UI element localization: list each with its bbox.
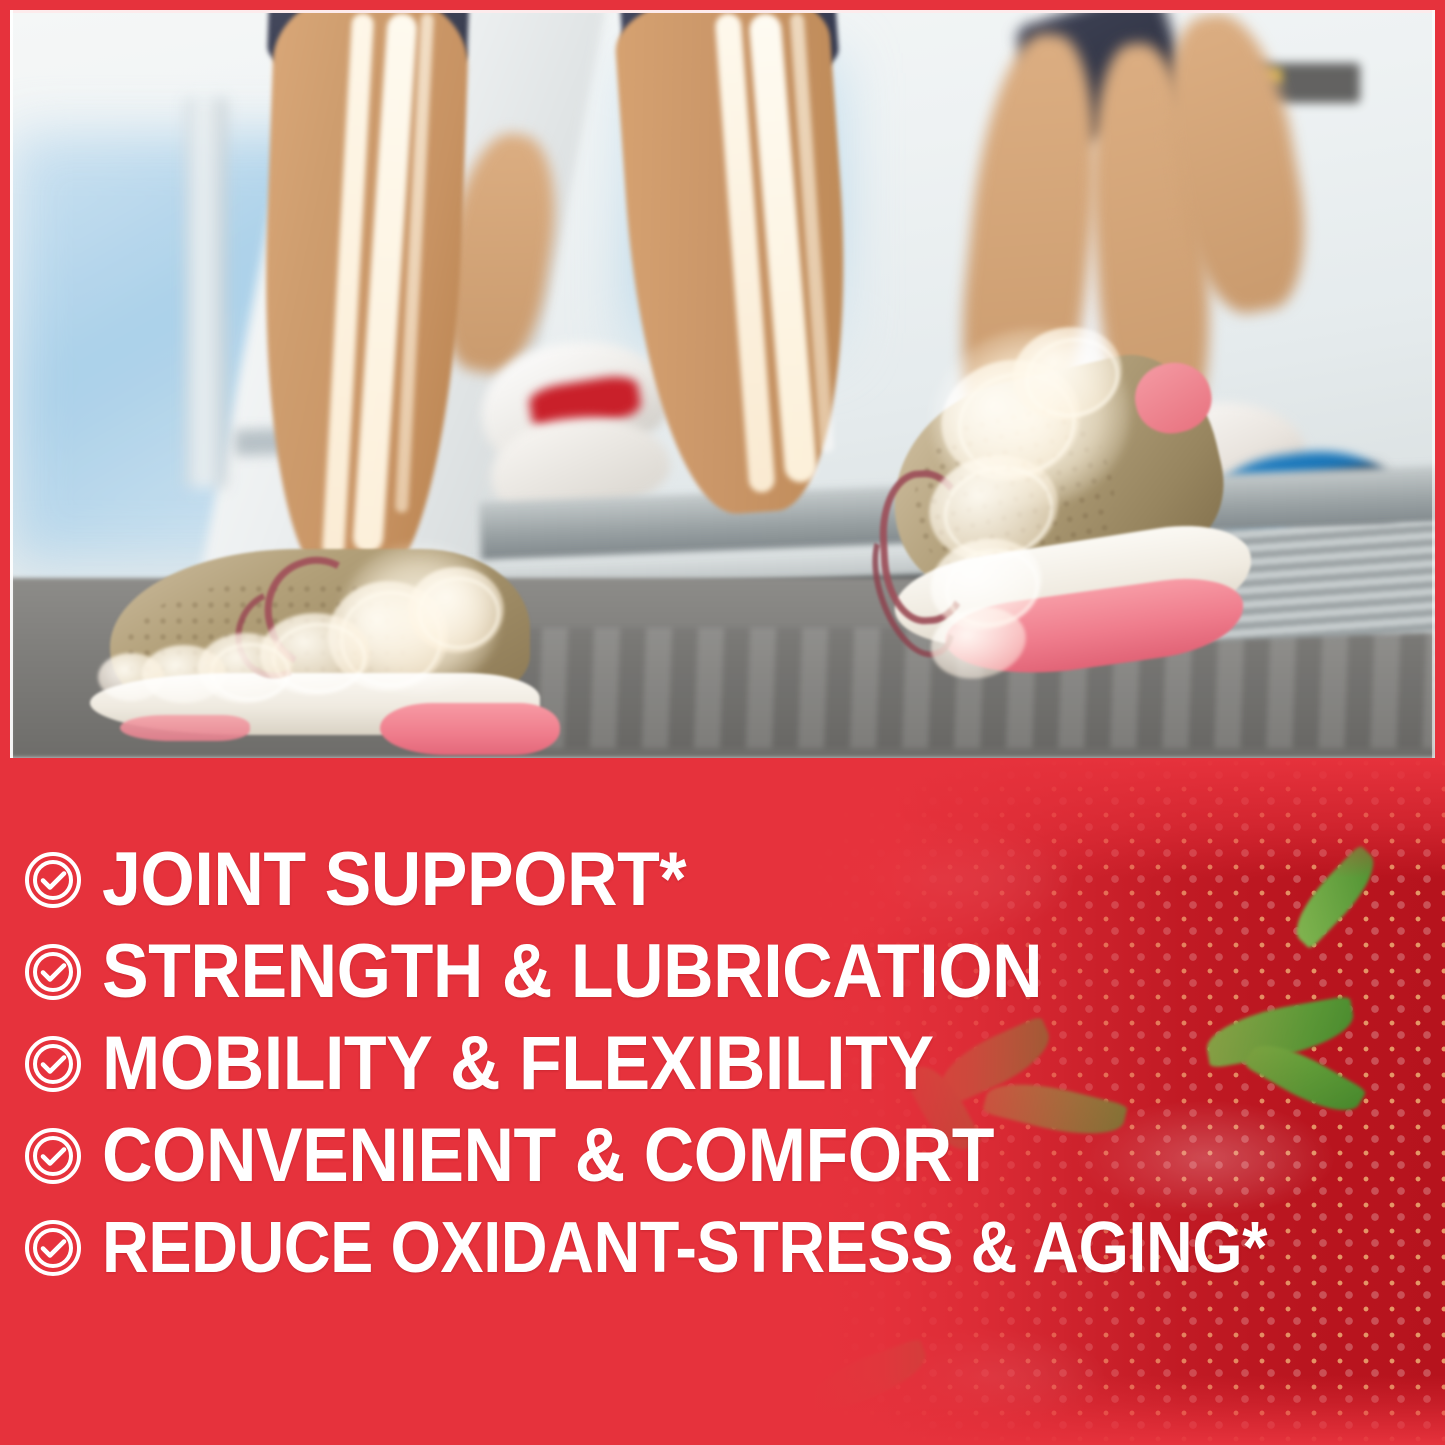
benefit-item-oxidant-stress: REDUCE OXIDANT-STRESS & AGING* bbox=[24, 1202, 1396, 1294]
foot-bones-glow-right bbox=[859, 312, 1250, 703]
check-circle-icon bbox=[24, 1127, 82, 1185]
check-circle-icon bbox=[24, 851, 82, 909]
photo-hairline-right bbox=[1432, 10, 1435, 758]
benefit-item-strength: STRENGTH & LUBRICATION bbox=[24, 926, 1396, 1018]
benefit-item-mobility: MOBILITY & FLEXIBILITY bbox=[24, 1018, 1396, 1110]
product-feature-banner: JOINT SUPPORT* STRENGTH & LUBRICATION bbox=[0, 0, 1445, 1445]
benefits-list: JOINT SUPPORT* STRENGTH & LUBRICATION bbox=[24, 834, 1396, 1294]
hero-photo bbox=[10, 13, 1435, 758]
benefit-label: STRENGTH & LUBRICATION bbox=[102, 934, 1042, 1010]
gym-pole bbox=[185, 98, 227, 488]
photo-hairline-left bbox=[10, 10, 13, 758]
red-gradient-overlay-bottom bbox=[685, 1375, 1445, 1445]
benefit-label: JOINT SUPPORT* bbox=[102, 842, 686, 918]
benefit-item-joint-support: JOINT SUPPORT* bbox=[24, 834, 1396, 926]
check-circle-icon bbox=[24, 1035, 82, 1093]
benefit-item-convenient: CONVENIENT & COMFORT bbox=[24, 1110, 1396, 1202]
benefit-label: REDUCE OXIDANT-STRESS & AGING* bbox=[102, 1212, 1267, 1284]
benefit-label: MOBILITY & FLEXIBILITY bbox=[102, 1026, 934, 1102]
check-circle-icon bbox=[24, 943, 82, 1001]
benefits-panel: JOINT SUPPORT* STRENGTH & LUBRICATION bbox=[0, 758, 1445, 1445]
photo-hairline-top bbox=[10, 10, 1435, 13]
benefit-label: CONVENIENT & COMFORT bbox=[102, 1118, 994, 1194]
check-circle-icon bbox=[24, 1219, 82, 1277]
foot-bones-glow-left bbox=[90, 573, 510, 733]
